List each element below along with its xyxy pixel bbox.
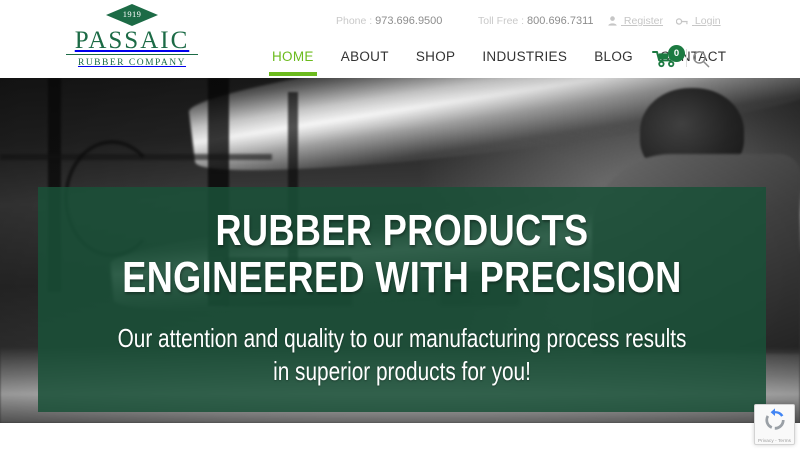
nav-item-blog[interactable]: BLOG: [594, 48, 633, 74]
register-label: Register: [624, 15, 663, 27]
nav-item-about[interactable]: ABOUT: [341, 48, 389, 74]
page-root: 1919 PASSAIC RUBBER COMPANY Phone : 973.…: [0, 0, 800, 450]
tollfree-info: Toll Free : 800.696.7311: [478, 12, 594, 30]
tollfree-label: Toll Free :: [478, 15, 524, 27]
recaptcha-logo-icon: [763, 419, 787, 436]
logo-wordmark: PASSAIC: [62, 27, 202, 54]
nav-divider: [686, 49, 687, 67]
hero-title: RUBBER PRODUCTS ENGINEERED WITH PRECISIO…: [104, 207, 701, 301]
register-link[interactable]: Register: [608, 12, 663, 32]
nav-item-shop[interactable]: SHOP: [416, 48, 455, 74]
hero-subtitle: Our attention and quality to our manufac…: [111, 322, 693, 388]
cart-count-badge: 0: [668, 45, 685, 62]
tollfree-number[interactable]: 800.696.7311: [527, 15, 593, 27]
recaptcha-legal-text: Privacy - Terms: [755, 438, 794, 444]
hero-banner: RUBBER PRODUCTS ENGINEERED WITH PRECISIO…: [0, 78, 800, 423]
hero-overlay-panel: RUBBER PRODUCTS ENGINEERED WITH PRECISIO…: [38, 187, 766, 412]
phone-number[interactable]: 973.696.9500: [375, 15, 442, 27]
top-utility-bar: Phone : 973.696.9500 Toll Free : 800.696…: [0, 12, 800, 30]
login-link[interactable]: Login: [676, 12, 721, 32]
nav-item-industries[interactable]: INDUSTRIES: [482, 48, 567, 74]
user-icon: [608, 14, 617, 32]
phone-label: Phone :: [336, 15, 372, 27]
search-icon[interactable]: [692, 50, 712, 70]
logo-tagline: RUBBER COMPANY: [62, 56, 202, 70]
key-icon: [676, 14, 688, 32]
phone-info: Phone : 973.696.9500: [336, 12, 442, 30]
recaptcha-badge[interactable]: Privacy - Terms: [754, 404, 795, 445]
nav-item-home[interactable]: HOME: [272, 48, 314, 74]
site-header: 1919 PASSAIC RUBBER COMPANY Phone : 973.…: [0, 0, 800, 78]
login-label: Login: [695, 15, 721, 27]
logo-rule: [66, 54, 198, 55]
